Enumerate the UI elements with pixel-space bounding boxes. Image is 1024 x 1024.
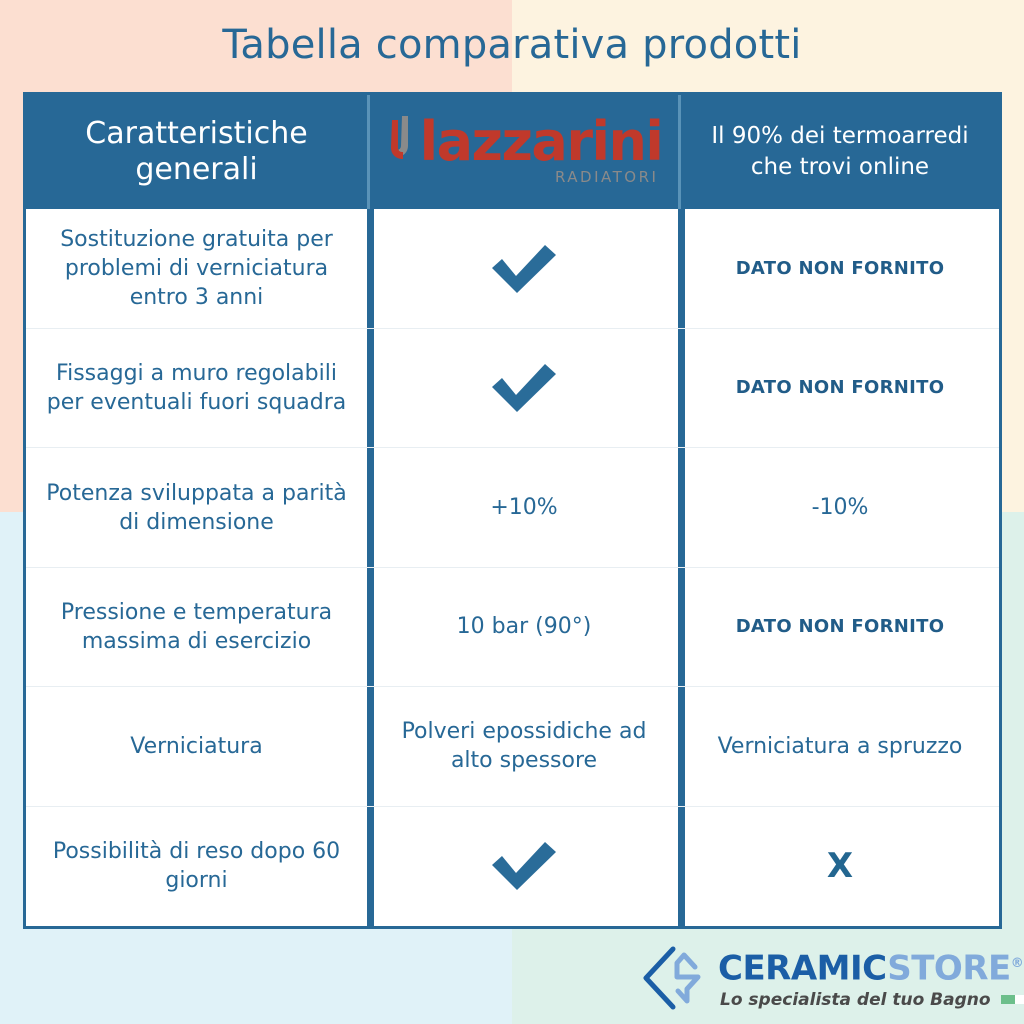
competitor-value-label: DATO NON FORNITO (736, 376, 945, 400)
header-competitors-label: Il 90% dei termoarredi che trovi online (693, 121, 987, 183)
table-row: Fissaggi a muro regolabili per eventuali… (26, 329, 999, 448)
competitor-value-cell: DATO NON FORNITO (681, 209, 999, 327)
table-row: Possibilità di reso dopo 60 giorni X (26, 807, 999, 926)
competitor-value-cell: DATO NON FORNITO (681, 329, 999, 447)
table-row: Pressione e temperatura massima di eserc… (26, 568, 999, 687)
header-features-label: Caratteristiche generali (38, 116, 355, 188)
lazzarini-value-cell (370, 807, 681, 926)
table-header-row: Caratteristiche generali lazzarini RADIA… (26, 95, 999, 209)
lazzarini-value-cell: +10% (370, 448, 681, 566)
feature-label: Fissaggi a muro regolabili per eventuali… (38, 359, 355, 417)
feature-cell: Possibilità di reso dopo 60 giorni (26, 807, 370, 926)
header-cell-competitors: Il 90% dei termoarredi che trovi online (681, 95, 999, 209)
checkmark-icon (488, 360, 560, 416)
comparison-table: Caratteristiche generali lazzarini RADIA… (23, 92, 1002, 929)
ceramicstore-mark-icon (640, 943, 710, 1013)
brand-secondary-label: STORE (887, 949, 1011, 989)
lazzarini-radiator-icon (386, 114, 412, 170)
feature-label: Pressione e temperatura massima di eserc… (38, 598, 355, 656)
feature-cell: Potenza sviluppata a parità di dimension… (26, 448, 370, 566)
lazzarini-value-cell (370, 209, 681, 327)
header-cell-lazzarini: lazzarini RADIATORI (370, 95, 681, 209)
feature-cell: Pressione e temperatura massima di eserc… (26, 568, 370, 686)
ceramicstore-text-block: CERAMICSTORE® Lo specialista del tuo Bag… (718, 945, 1024, 1010)
registered-mark-icon: ® (1011, 956, 1024, 971)
feature-cell: Verniciatura (26, 687, 370, 805)
page-title: Tabella comparativa prodotti (0, 18, 1024, 72)
feature-label: Potenza sviluppata a parità di dimension… (38, 479, 355, 537)
competitor-value-cell: -10% (681, 448, 999, 566)
feature-label: Possibilità di reso dopo 60 giorni (38, 837, 355, 895)
brand-primary-label: CERAMIC (718, 949, 887, 989)
comparison-table-page: Tabella comparativa prodotti Caratterist… (0, 0, 1024, 1024)
cross-icon: X (827, 849, 853, 883)
italian-flag-icon (1001, 995, 1024, 1004)
checkmark-icon (488, 241, 560, 297)
ceramicstore-wordmark: CERAMICSTORE® (718, 945, 1024, 987)
table-row: Verniciatura Polveri epossidiche ad alto… (26, 687, 999, 806)
checkmark-icon (488, 838, 560, 894)
lazzarini-value-cell: 10 bar (90°) (370, 568, 681, 686)
flag-stripe-white (1015, 995, 1024, 1004)
feature-cell: Sostituzione gratuita per problemi di ve… (26, 209, 370, 327)
tagline-label: Lo specialista del tuo Bagno (720, 989, 991, 1011)
competitor-value-label: DATO NON FORNITO (736, 257, 945, 281)
flag-stripe-green (1001, 995, 1015, 1004)
lazzarini-value-label: +10% (490, 493, 557, 522)
ceramicstore-logo: CERAMICSTORE® Lo specialista del tuo Bag… (640, 940, 1010, 1016)
ceramicstore-tagline-row: Lo specialista del tuo Bagno (718, 989, 1024, 1011)
table-row: Sostituzione gratuita per problemi di ve… (26, 209, 999, 328)
lazzarini-tagline: RADIATORI (555, 168, 658, 186)
lazzarini-wordmark: lazzarini (420, 115, 663, 169)
lazzarini-value-label: 10 bar (90°) (457, 612, 592, 641)
header-cell-features: Caratteristiche generali (26, 95, 370, 209)
feature-cell: Fissaggi a muro regolabili per eventuali… (26, 329, 370, 447)
competitor-value-cell: DATO NON FORNITO (681, 568, 999, 686)
lazzarini-value-cell (370, 329, 681, 447)
feature-label: Verniciatura (130, 732, 262, 761)
lazzarini-value-label: Polveri epossidiche ad alto spessore (382, 717, 666, 775)
competitor-value-label: -10% (812, 493, 869, 522)
feature-label: Sostituzione gratuita per problemi di ve… (38, 225, 355, 312)
competitor-value-label: Verniciatura a spruzzo (718, 732, 963, 761)
table-row: Potenza sviluppata a parità di dimension… (26, 448, 999, 567)
lazzarini-logo-top: lazzarini (386, 114, 663, 170)
lazzarini-logo: lazzarini RADIATORI (386, 114, 663, 186)
competitor-value-cell: Verniciatura a spruzzo (681, 687, 999, 805)
lazzarini-value-cell: Polveri epossidiche ad alto spessore (370, 687, 681, 805)
competitor-value-cell: X (681, 807, 999, 926)
competitor-value-label: DATO NON FORNITO (736, 615, 945, 639)
